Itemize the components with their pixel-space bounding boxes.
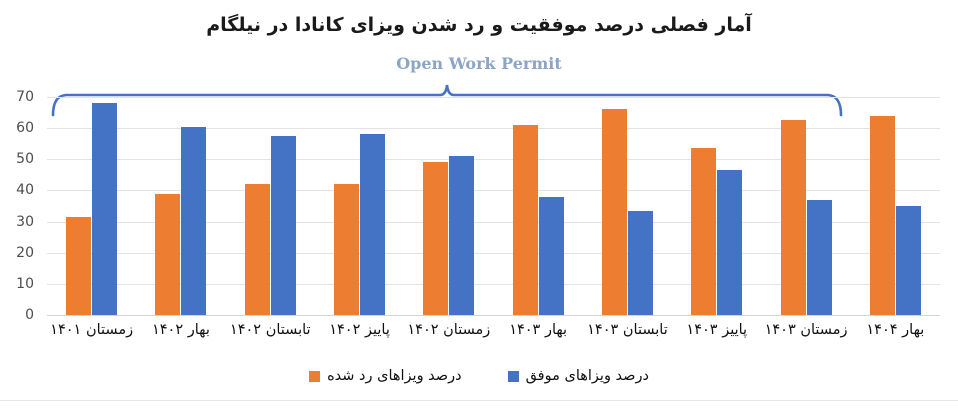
legend-swatch-icon (309, 371, 320, 382)
y-axis-tick-label: 20 (0, 245, 34, 261)
y-axis-tick-label: 40 (0, 182, 34, 198)
y-axis-tick-label: 70 (0, 89, 34, 105)
y-axis-tick-label: 0 (0, 307, 34, 323)
x-axis-category-label: بهار ۱۴۰۲ (152, 322, 210, 338)
bar-rejected[interactable] (423, 162, 448, 315)
bar-rejected[interactable] (691, 148, 716, 315)
bar-success[interactable] (807, 200, 832, 315)
x-axis-category-label: بهار ۱۴۰۳ (509, 322, 567, 338)
x-axis-category-label: تابستان ۱۴۰۲ (230, 322, 311, 338)
bar-rejected[interactable] (334, 184, 359, 315)
bar-rejected[interactable] (66, 217, 91, 315)
bar-success[interactable] (628, 211, 653, 315)
bar-success[interactable] (717, 170, 742, 315)
chart-subtitle: Open Work Permit (0, 54, 958, 73)
bar-success[interactable] (896, 206, 921, 315)
y-axis-tick-label: 50 (0, 151, 34, 167)
bar-rejected[interactable] (513, 125, 538, 315)
legend-label: درصد ویزاهای رد شده (327, 368, 462, 384)
bar-success[interactable] (449, 156, 474, 315)
chart-legend: درصد ویزاهای موفقدرصد ویزاهای رد شده (0, 368, 958, 384)
bar-success[interactable] (92, 103, 117, 315)
legend-swatch-icon (508, 371, 519, 382)
x-axis-category-label: زمستان ۱۴۰۱ (50, 322, 133, 338)
x-axis-category-label: زمستان ۱۴۰۲ (407, 322, 490, 338)
legend-item-success[interactable]: درصد ویزاهای موفق (508, 368, 649, 384)
bar-rejected[interactable] (870, 116, 895, 315)
legend-item-rejected[interactable]: درصد ویزاهای رد شده (309, 368, 462, 384)
bar-success[interactable] (360, 134, 385, 315)
bar-rejected[interactable] (781, 120, 806, 315)
x-axis-category-label: پاییز ۱۴۰۳ (686, 322, 747, 338)
bar-rejected[interactable] (602, 109, 627, 315)
y-axis-tick-label: 30 (0, 214, 34, 230)
x-axis-category-label: پاییز ۱۴۰۲ (329, 322, 390, 338)
y-axis-tick-label: 10 (0, 276, 34, 292)
chart-title: آمار فصلی درصد موفقیت و رد شدن ویزای کان… (0, 14, 958, 36)
plot-area (47, 97, 940, 315)
x-axis-category-label: بهار ۱۴۰۴ (866, 322, 924, 338)
axis-baseline (47, 315, 940, 316)
bar-success[interactable] (539, 197, 564, 315)
x-axis-category-label: تابستان ۱۴۰۳ (587, 322, 668, 338)
y-axis: 010203040506070 (0, 97, 40, 315)
bar-success[interactable] (271, 136, 296, 315)
bar-rejected[interactable] (155, 194, 180, 315)
bar-success[interactable] (181, 127, 206, 315)
gridline (47, 97, 940, 98)
footer-divider (0, 400, 958, 401)
y-axis-tick-label: 60 (0, 120, 34, 136)
chart-container: آمار فصلی درصد موفقیت و رد شدن ویزای کان… (0, 0, 958, 408)
legend-label: درصد ویزاهای موفق (526, 368, 649, 384)
bar-rejected[interactable] (245, 184, 270, 315)
x-axis-category-label: زمستان ۱۴۰۳ (765, 322, 848, 338)
